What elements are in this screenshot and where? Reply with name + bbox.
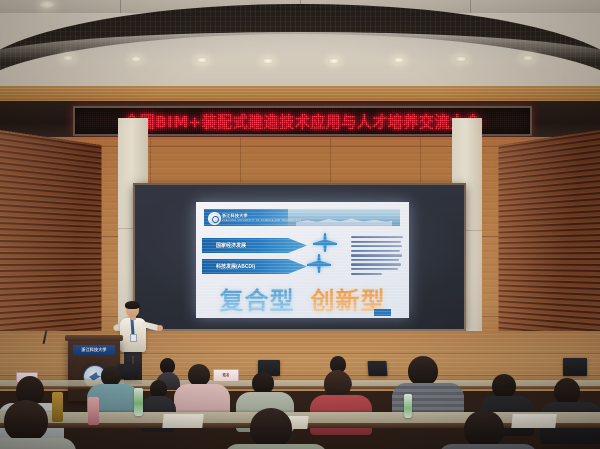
audience-area: 姓名: [0, 352, 600, 449]
slide-arrow-technology-label: 科技发展(ABCDI): [216, 263, 255, 270]
slide-arrow-economy: 国家经济发展: [202, 238, 307, 253]
ceiling-spotlight: [295, 22, 306, 37]
handout-paper: [162, 414, 203, 428]
ceiling-spotlight: [248, 23, 259, 38]
slide-header-photo: [288, 209, 400, 226]
ceiling-downlight: [393, 57, 405, 63]
ceiling-spotlight: [90, 30, 101, 45]
ceiling-spotlight: [50, 33, 61, 48]
plus-plane-icon: [312, 233, 338, 253]
handout-paper: [511, 414, 556, 428]
laptop: [563, 358, 587, 376]
ceiling-downlight: [328, 58, 340, 64]
led-banner-text: 全国BIM+装配式建造技术应用与人才培养交流大会: [124, 110, 481, 132]
ceiling-downlight: [455, 56, 467, 62]
slide-arrow-economy-label: 国家经济发展: [216, 242, 246, 249]
ceiling-downlight: [130, 56, 142, 62]
ceiling-downlight: [62, 55, 74, 61]
slide-keyword-composite: 复合型: [220, 281, 295, 316]
thermos-flask: [88, 397, 99, 425]
name-card: 姓名: [213, 369, 239, 382]
ceiling-spotlight: [452, 27, 463, 42]
slide-keywords: 复合型 创新型: [196, 284, 409, 312]
presentation-screen: 浙江科技大学 ZHEJIANG UNIVERSITY OF SCIENCE AN…: [133, 183, 466, 331]
plus-plane-icon: [306, 254, 332, 274]
water-bottle: [134, 388, 143, 416]
slide-header: 浙江科技大学 ZHEJIANG UNIVERSITY OF SCIENCE AN…: [204, 209, 400, 226]
ceiling-downlight: [522, 55, 534, 61]
ceiling-spotlight: [533, 33, 544, 48]
university-emblem-icon: [208, 212, 221, 225]
thermos-flask: [52, 392, 63, 422]
ceiling-spotlight: [497, 30, 508, 45]
name-badge: [130, 334, 137, 342]
ceiling: [0, 0, 600, 96]
conference-hall-photo: 全国BIM+装配式建造技术应用与人才培养交流大会 浙江科技大学 ZHEJIANG…: [0, 0, 600, 449]
ceiling-spotlight: [133, 27, 144, 42]
ceiling-downlight: [196, 57, 208, 63]
ceiling-downlight: [262, 58, 274, 64]
water-bottle: [404, 394, 412, 418]
laptop: [367, 361, 387, 376]
slide-arrow-technology: 科技发展(ABCDI): [202, 259, 307, 274]
slide-institution-subtitle: ZHEJIANG UNIVERSITY OF SCIENCE AND TECHN…: [222, 219, 302, 222]
slide-accent-block: [374, 309, 391, 316]
name-card-text: 姓名: [223, 373, 230, 378]
slide-paragraph: [351, 236, 403, 277]
ceiling-spotlight: [340, 23, 351, 38]
slide-content: 浙江科技大学 ZHEJIANG UNIVERSITY OF SCIENCE AN…: [196, 202, 409, 318]
ceiling-light-corner: [40, 1, 54, 8]
